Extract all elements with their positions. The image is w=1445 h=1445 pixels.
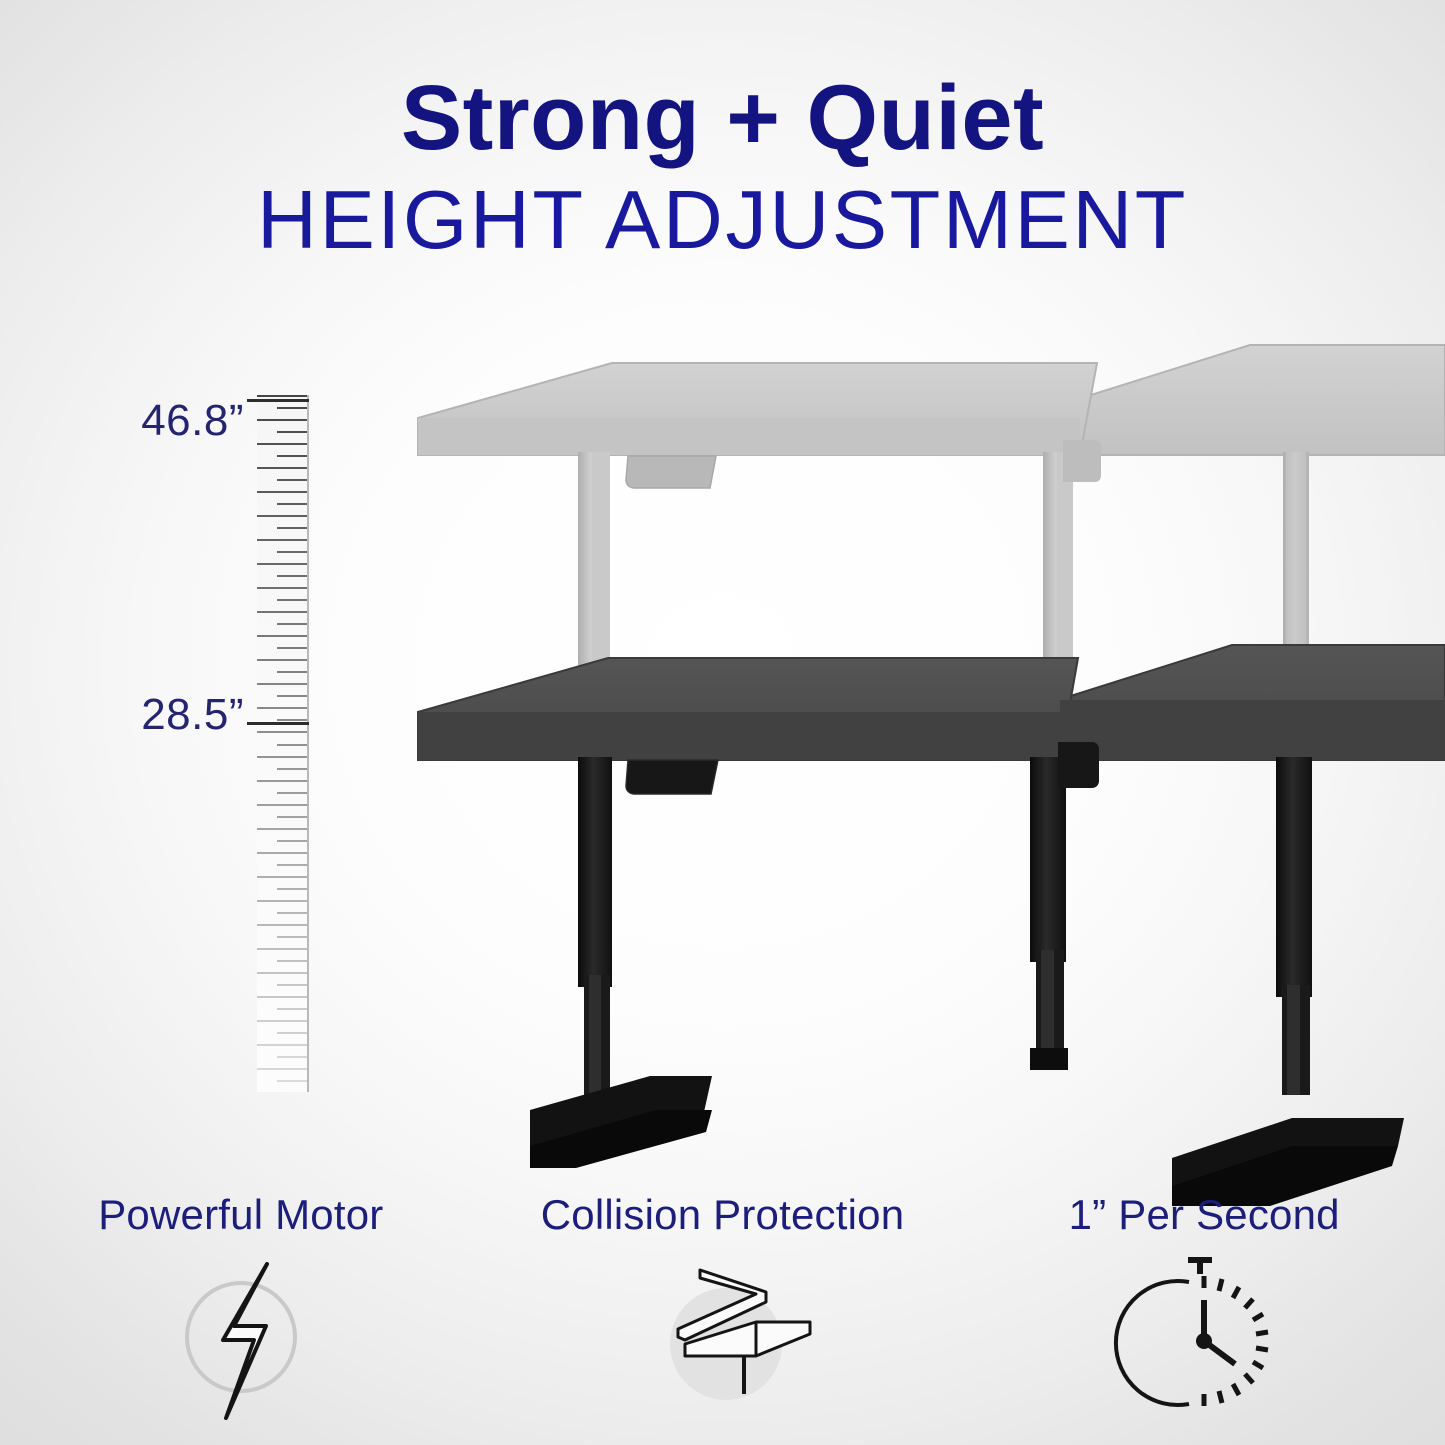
lowered-desk [418, 645, 1445, 1206]
right-foot [1172, 1118, 1404, 1186]
min-height-label: 28.5” [141, 690, 244, 740]
feature-row: Powerful Motor Collision Protection 1” [0, 1192, 1445, 1445]
raised-desk-ghost [418, 345, 1445, 687]
ruler-tick-major [257, 948, 307, 950]
ruler-tick-minor [277, 431, 307, 433]
ruler-tick-minor [277, 792, 307, 794]
ruler-tick-minor [277, 479, 307, 481]
max-height-marker-tick [247, 399, 309, 402]
lightning-bolt-icon [146, 1252, 336, 1427]
ruler-tick-major [257, 443, 307, 445]
ruler-tick-major [257, 539, 307, 541]
ruler-tick-minor [277, 527, 307, 529]
ruler-tick-major [257, 635, 307, 637]
ruler-tick-major [257, 731, 307, 733]
ruler-tick-major [257, 467, 307, 469]
ruler-tick-minor [277, 1008, 307, 1010]
ruler-tick-minor [277, 984, 307, 986]
ruler-tick-minor [277, 575, 307, 577]
infographic-canvas: Strong + Quiet HEIGHT ADJUSTMENT 46.8” 2… [0, 0, 1445, 1445]
ruler-tick-minor [277, 551, 307, 553]
ruler-tick-major [257, 828, 307, 830]
ruler-tick-major [257, 611, 307, 613]
feature-label: Collision Protection [541, 1192, 905, 1238]
ruler-tick-major [257, 1068, 307, 1070]
ruler-tick-minor [277, 503, 307, 505]
ruler-tick-minor [277, 1032, 307, 1034]
left-foot [530, 1076, 712, 1148]
ruler-tick-minor [277, 455, 307, 457]
ruler-tick-major [257, 419, 307, 421]
ruler-tick-major [257, 900, 307, 902]
ruler-tick-major [257, 587, 307, 589]
ruler-tick-major [257, 996, 307, 998]
ruler-tick-major [257, 563, 307, 565]
ruler-tick-minor [277, 599, 307, 601]
ruler-tick-minor [277, 936, 307, 938]
ruler-tick-major [257, 852, 307, 854]
ruler-tick-minor [277, 407, 307, 409]
ruler-tick-minor [277, 816, 307, 818]
ruler-tick-minor [277, 888, 307, 890]
clock-icon [1109, 1252, 1299, 1427]
height-ruler [257, 395, 309, 1092]
ruler-tick-major [257, 972, 307, 974]
raised-desk-controller [626, 456, 716, 488]
ruler-tick-major [257, 1044, 307, 1046]
max-height-label: 46.8” [141, 396, 244, 446]
ruler-tick-minor [277, 647, 307, 649]
ruler-tick-minor [277, 1056, 307, 1058]
ruler-tick-minor [277, 840, 307, 842]
min-height-marker-tick [247, 722, 309, 725]
ruler-tick-major [257, 395, 307, 397]
feature-speed: 1” Per Second [963, 1192, 1445, 1445]
ruler-tick-minor [277, 671, 307, 673]
ruler-tick-minor [277, 912, 307, 914]
ruler-tick-major [257, 780, 307, 782]
collision-surfaces-icon [628, 1252, 818, 1427]
ruler-tick-minor [277, 1080, 307, 1082]
ruler-tick-major [257, 707, 307, 709]
ruler-tick-major [257, 1020, 307, 1022]
feature-collision-protection: Collision Protection [482, 1192, 964, 1445]
ruler-tick-minor [277, 719, 307, 721]
ruler-tick-minor [277, 623, 307, 625]
ruler-tick-major [257, 659, 307, 661]
ruler-tick-major [257, 924, 307, 926]
ruler-tick-major [257, 804, 307, 806]
ruler-tick-major [257, 683, 307, 685]
ruler-tick-major [257, 491, 307, 493]
ruler-tick-major [257, 515, 307, 517]
feature-label: 1” Per Second [1069, 1192, 1340, 1238]
lowered-desk-controller [626, 760, 718, 794]
feature-label: Powerful Motor [98, 1192, 383, 1238]
feature-powerful-motor: Powerful Motor [0, 1192, 482, 1445]
ruler-tick-minor [277, 864, 307, 866]
ruler-tick-minor [277, 768, 307, 770]
ruler-tick-minor [277, 744, 307, 746]
ruler-tick-minor [277, 695, 307, 697]
ruler-tick-major [257, 876, 307, 878]
ruler-tick-minor [277, 960, 307, 962]
ruler-tick-major [257, 756, 307, 758]
